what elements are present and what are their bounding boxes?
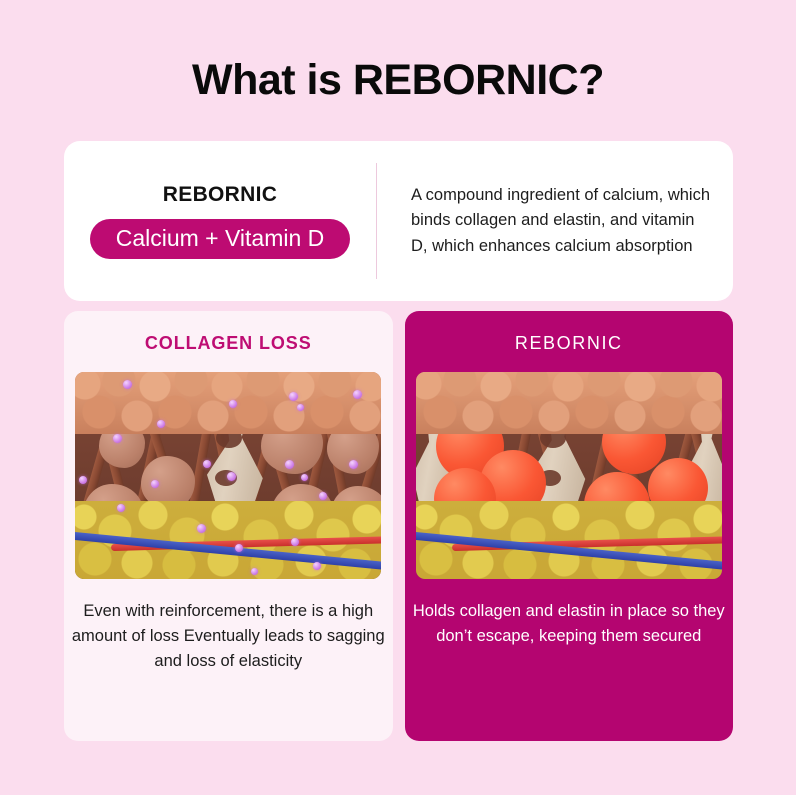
infographic-page: What is REBORNIC? REBORNIC Calcium + Vit… [0, 0, 796, 795]
page-title: What is REBORNIC? [0, 56, 796, 105]
brand-pill-badge: Calcium + Vitamin D [90, 219, 351, 259]
brand-description: A compound ingredient of calcium, which … [411, 183, 711, 260]
comparison-card-rebornic: REBORNIC [405, 311, 734, 741]
comparison-row: COLLAGEN LOSS [64, 311, 733, 741]
card-heading-rebornic: REBORNIC [515, 333, 623, 354]
card-heading-collagen-loss: COLLAGEN LOSS [145, 333, 312, 354]
info-card-brand-section: REBORNIC Calcium + Vitamin D [64, 141, 376, 301]
comparison-card-collagen-loss: COLLAGEN LOSS [64, 311, 393, 741]
skin-cross-section-collagen-loss-illustration [75, 372, 381, 579]
card-caption-rebornic: Holds collagen and elastin in place so t… [405, 599, 734, 649]
info-card-description-section: A compound ingredient of calcium, which … [377, 141, 733, 301]
card-caption-collagen-loss: Even with reinforcement, there is a high… [64, 599, 393, 674]
skin-cross-section-rebornic-illustration [416, 372, 722, 579]
epidermis-layer [75, 372, 381, 434]
brand-name: REBORNIC [163, 183, 277, 207]
info-card: REBORNIC Calcium + Vitamin D A compound … [64, 141, 733, 301]
epidermis-layer [416, 372, 722, 434]
